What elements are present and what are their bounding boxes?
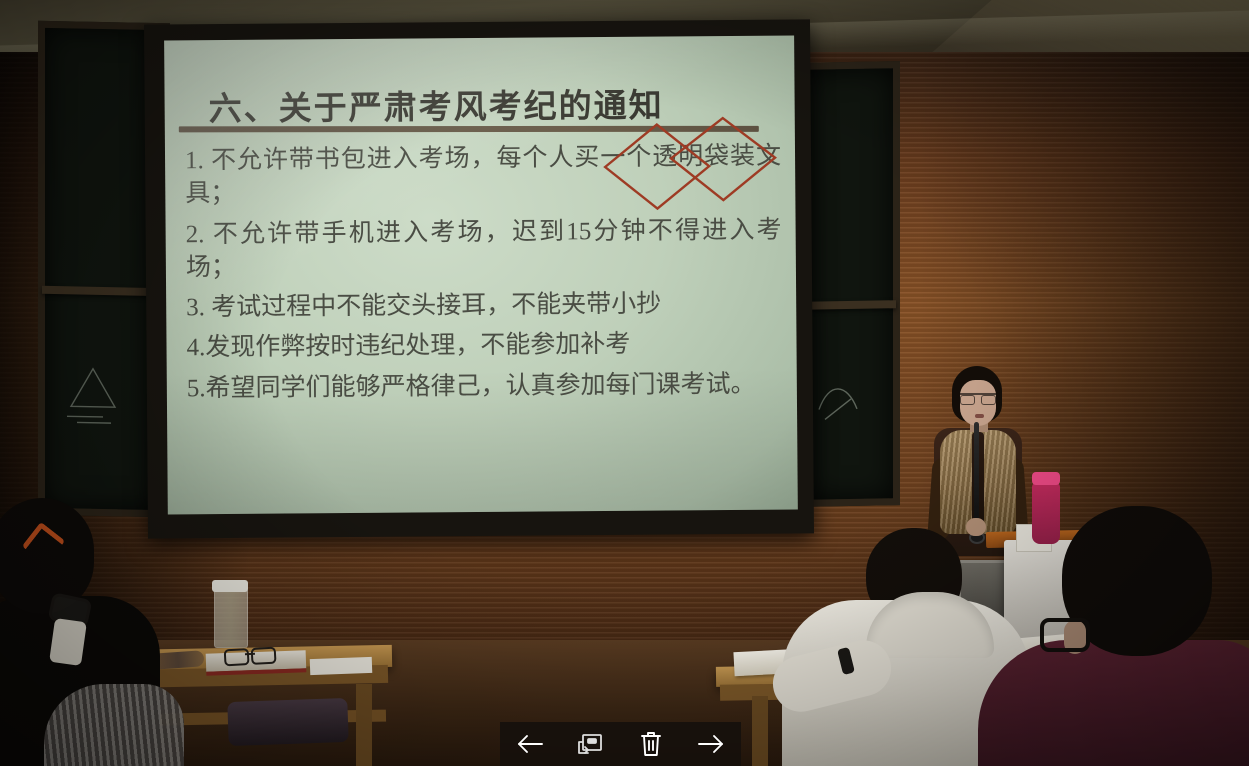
slide-body: 1. 不允许带书包进入考场，每个人买一个透明袋装文具； 2. 不允许带手机进入考… [175, 140, 789, 413]
eyeglasses-on-desk [224, 647, 277, 663]
slide-bullet-1: 1. 不允许带书包进入考场，每个人买一个透明袋装文具； [175, 140, 788, 211]
slide-title-underline [179, 126, 759, 133]
trash-icon[interactable] [629, 724, 673, 764]
desk-right-leg [752, 696, 768, 766]
chalk-marks-left [63, 358, 143, 430]
chalk-marks-right [813, 369, 873, 430]
forward-arrow-icon[interactable] [689, 724, 733, 764]
backpack-under-desk [227, 698, 348, 746]
back-arrow-icon[interactable] [508, 724, 552, 764]
pink-water-bottle [1032, 482, 1060, 544]
photo-viewer-stage: 六、关于严肃考风考纪的通知 1. 不允许带书包进入考场，每个人买一个透明袋装文具… [0, 0, 1249, 766]
student-maroon-body [978, 640, 1249, 766]
student-maroon-glasses [1040, 618, 1090, 652]
slide-title: 六、关于严肃考风考纪的通知 [208, 78, 768, 130]
instructor-hand [966, 518, 986, 536]
instructor-mouth [975, 414, 984, 418]
student-front-left-face-mask [49, 618, 87, 666]
archive-icon[interactable] [568, 724, 612, 764]
presentation-slide: 六、关于严肃考风考纪的通知 1. 不允许带书包进入考场，每个人买一个透明袋装文具… [164, 36, 798, 515]
instructor-glasses [960, 393, 996, 403]
slide-bullet-3: 3. 考试过程中不能交头接耳，不能夹带小抄 [176, 287, 788, 325]
image-viewer-toolbar[interactable] [500, 722, 741, 766]
clear-water-jar [214, 588, 248, 648]
slide-bullet-5: 5.希望同学们能够严格律己，认真参加每门课考试。 [177, 367, 789, 405]
slide-bullet-2: 2. 不允许带手机进入考场，迟到15分钟不得进入考场； [176, 213, 789, 284]
blackboard-right [800, 61, 900, 507]
paper-sheet-left [310, 657, 373, 675]
desk-left-leg-far [356, 684, 372, 766]
water-jar-cap [212, 580, 248, 592]
chalk-ledge-right [804, 300, 896, 310]
projector-screen-frame: 六、关于严肃考风考纪的通知 1. 不允许带书包进入考场，每个人买一个透明袋装文具… [144, 19, 814, 538]
slide-bullet-4: 4.发现作弊按时违纪处理，不能参加补考 [176, 327, 788, 365]
water-bottle-cap [1032, 472, 1060, 485]
